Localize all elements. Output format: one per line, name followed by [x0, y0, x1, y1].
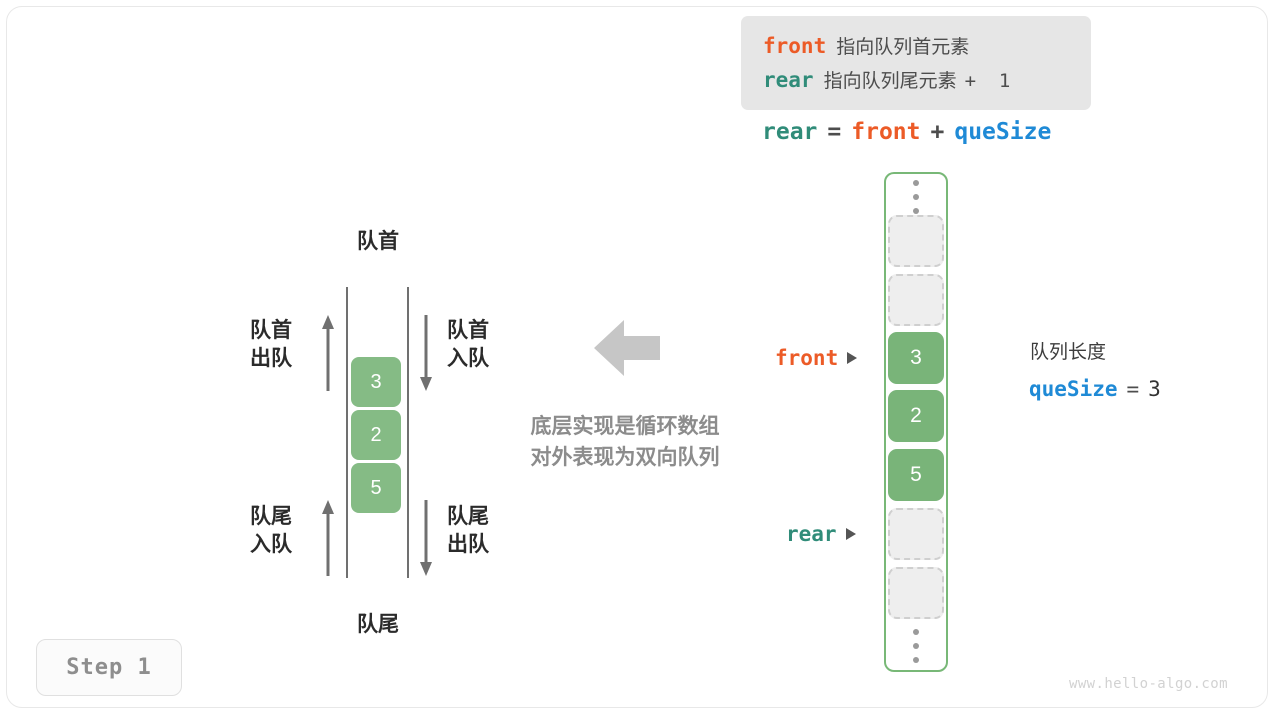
legend-keyword-rear: rear: [763, 68, 814, 92]
pointer-legend-box: front 指向队列首元素 rear 指向队列尾元素 + 1: [741, 16, 1091, 110]
pointer-arrow-front-icon: [847, 352, 857, 364]
diagram-canvas: front 指向队列首元素 rear 指向队列尾元素 + 1 rear = fr…: [0, 0, 1280, 720]
legend-keyword-front: front: [763, 34, 826, 58]
quesize-value: 3: [1148, 377, 1161, 401]
deque-cell-0-value: 3: [370, 371, 381, 394]
legend-line-rear: rear 指向队列尾元素 + 1: [763, 66, 1010, 93]
deque-rail-left: [346, 287, 348, 578]
pointer-label-front-text: front: [775, 346, 838, 370]
legend-desc-rear: 指向队列尾元素: [824, 66, 957, 93]
array-cell-5[interactable]: [888, 508, 944, 560]
formula-plus: +: [931, 119, 945, 145]
formula-front: front: [851, 119, 920, 145]
array-cell-0[interactable]: [888, 215, 944, 267]
watermark: www.hello-algo.com: [1069, 676, 1228, 692]
deque-cell-1-value: 2: [370, 424, 381, 447]
formula-equals: =: [827, 119, 841, 145]
center-note-text: 底层实现是循环数组 对外表现为双向队列: [503, 411, 747, 473]
array-cell-6[interactable]: [888, 567, 944, 619]
pointer-label-front: front: [775, 346, 857, 370]
pointer-label-rear-text: rear: [786, 522, 837, 546]
array-cell-3[interactable]: 2: [888, 390, 944, 442]
quesize-expression: queSize = 3: [1029, 377, 1161, 401]
quesize-equals: =: [1127, 377, 1140, 401]
array-cell-3-value: 2: [910, 404, 922, 428]
deque-rail-right: [407, 287, 409, 578]
array-cell-2-value: 3: [910, 346, 922, 370]
arrow-up-front-pop-icon: [320, 315, 336, 391]
array-cell-4[interactable]: 5: [888, 449, 944, 501]
legend-suffix-rear: + 1: [965, 70, 1011, 92]
op-label-rear-pop: 队尾 出队: [447, 503, 489, 560]
op-label-front-pop: 队首 出队: [250, 317, 292, 374]
deque-top-label: 队首: [348, 228, 408, 256]
formula-quesize: queSize: [954, 119, 1051, 145]
deque-cell-1[interactable]: 2: [351, 410, 401, 460]
formula-rear-equals-front-plus-quesize: rear = front + queSize: [762, 119, 1051, 145]
step-badge-label: Step 1: [66, 655, 151, 680]
arrow-up-rear-push-icon: [320, 500, 336, 576]
deque-cell-0[interactable]: 3: [351, 357, 401, 407]
deque-bottom-label: 队尾: [348, 611, 408, 639]
step-badge: Step 1: [36, 639, 182, 696]
op-label-front-push: 队首 入队: [447, 317, 489, 374]
vertical-ellipsis-top-icon: [908, 180, 924, 214]
quesize-name: queSize: [1029, 377, 1118, 401]
array-cell-1[interactable]: [888, 274, 944, 326]
legend-line-front: front 指向队列首元素: [763, 32, 969, 59]
array-cell-2[interactable]: 3: [888, 332, 944, 384]
arrow-down-front-push-icon: [418, 315, 434, 391]
queue-length-title: 队列长度: [1030, 340, 1106, 365]
formula-rear: rear: [762, 119, 817, 145]
deque-cell-2[interactable]: 5: [351, 463, 401, 513]
op-label-rear-push: 队尾 入队: [250, 503, 292, 560]
array-cell-4-value: 5: [910, 463, 922, 487]
pointer-arrow-rear-icon: [846, 528, 856, 540]
vertical-ellipsis-bottom-icon: [908, 629, 924, 663]
legend-desc-front: 指向队列首元素: [836, 32, 969, 59]
left-arrow-icon: [594, 320, 660, 376]
arrow-down-rear-pop-icon: [418, 500, 434, 576]
deque-cell-2-value: 5: [370, 477, 381, 500]
pointer-label-rear: rear: [786, 522, 856, 546]
